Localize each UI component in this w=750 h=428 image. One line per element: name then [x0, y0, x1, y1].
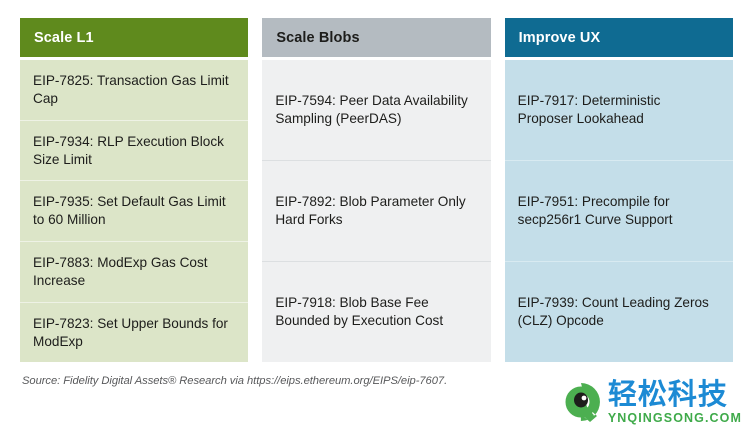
- column-header-scale-blobs: Scale Blobs: [262, 18, 490, 57]
- list-item: EIP-7825: Transaction Gas Limit Cap: [20, 60, 248, 121]
- column-scale-blobs: Scale Blobs EIP-7594: Peer Data Availabi…: [262, 18, 490, 362]
- watermark-logo: 轻松科技 YNQINGSONG.COM: [560, 380, 742, 425]
- watermark-text: 轻松科技 YNQINGSONG.COM: [608, 380, 742, 425]
- column-body-improve-ux: EIP-7917: Deterministic Proposer Lookahe…: [505, 60, 733, 362]
- list-item: EIP-7594: Peer Data Availability Samplin…: [262, 60, 490, 161]
- list-item: EIP-7892: Blob Parameter Only Hard Forks: [262, 161, 490, 262]
- eye-circle-icon: [560, 381, 602, 423]
- list-item: EIP-7934: RLP Execution Block Size Limit: [20, 121, 248, 182]
- list-item: EIP-7951: Precompile for secp256r1 Curve…: [505, 161, 733, 262]
- column-header-scale-l1: Scale L1: [20, 18, 248, 57]
- column-body-scale-l1: EIP-7825: Transaction Gas Limit Cap EIP-…: [20, 60, 248, 362]
- column-body-scale-blobs: EIP-7594: Peer Data Availability Samplin…: [262, 60, 490, 362]
- list-item: EIP-7883: ModExp Gas Cost Increase: [20, 242, 248, 303]
- watermark-cn-label: 轻松科技: [608, 380, 728, 409]
- list-item: EIP-7939: Count Leading Zeros (CLZ) Opco…: [505, 262, 733, 362]
- column-header-improve-ux: Improve UX: [505, 18, 733, 57]
- watermark-en-label: YNQINGSONG.COM: [608, 412, 742, 425]
- columns-container: Scale L1 EIP-7825: Transaction Gas Limit…: [20, 18, 733, 362]
- list-item: EIP-7918: Blob Base Fee Bounded by Execu…: [262, 262, 490, 362]
- column-scale-l1: Scale L1 EIP-7825: Transaction Gas Limit…: [20, 18, 248, 362]
- eip-roadmap-board: Scale L1 EIP-7825: Transaction Gas Limit…: [0, 0, 750, 426]
- list-item: EIP-7917: Deterministic Proposer Lookahe…: [505, 60, 733, 161]
- column-improve-ux: Improve UX EIP-7917: Deterministic Propo…: [505, 18, 733, 362]
- list-item: EIP-7935: Set Default Gas Limit to 60 Mi…: [20, 181, 248, 242]
- list-item: EIP-7823: Set Upper Bounds for ModExp: [20, 303, 248, 363]
- source-note: Source: Fidelity Digital Assets® Researc…: [20, 373, 447, 387]
